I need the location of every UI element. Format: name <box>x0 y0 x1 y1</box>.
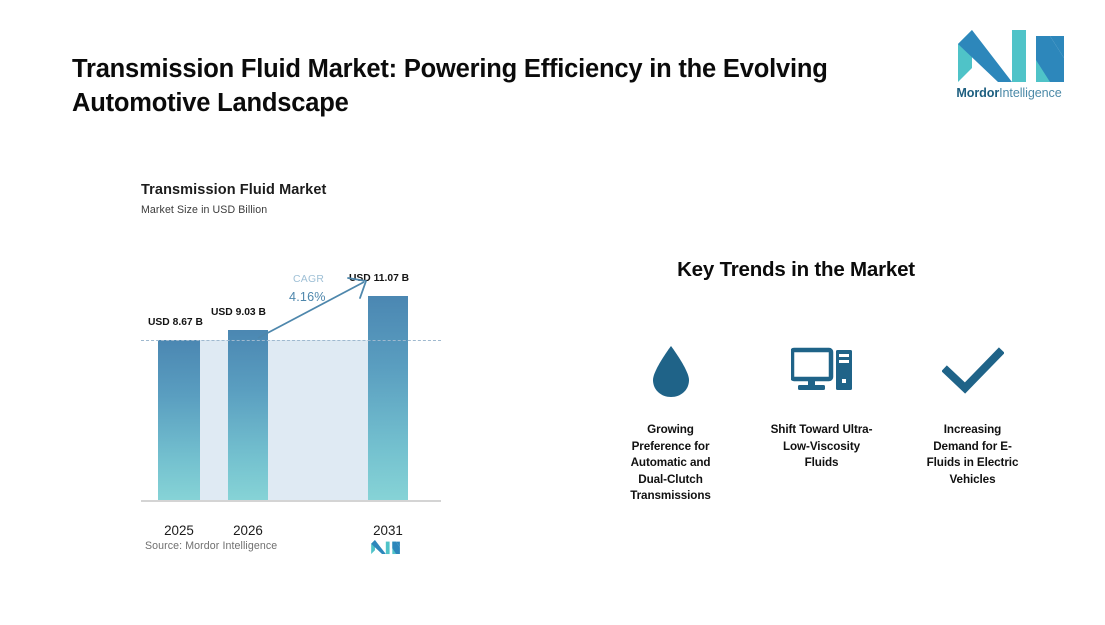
trend-item-2: Shift Toward Ultra-Low-Viscosity Fluids <box>746 338 897 505</box>
x-tick-2026: 2026 <box>223 523 273 538</box>
trend-label-2: Shift Toward Ultra-Low-Viscosity Fluids <box>767 422 877 472</box>
brand-wordmark: MordorIntelligence <box>950 86 1068 100</box>
cagr-label: CAGR <box>293 274 324 285</box>
x-axis-line <box>141 500 441 502</box>
chart-source-text: Source: Mordor Intelligence <box>145 540 277 552</box>
chart-title: Transmission Fluid Market <box>141 182 441 198</box>
trend-label-3: Increasing Demand for E-Fluids in Electr… <box>920 422 1026 488</box>
cagr-value: 4.16% <box>289 290 326 304</box>
water-droplet-icon <box>649 338 693 404</box>
trends-heading: Key Trends in the Market <box>640 258 952 282</box>
bar-chart-plot: USD 8.67 B USD 9.03 B USD 11.07 B CAGR 4… <box>141 268 441 512</box>
bar-value-label-2025: USD 8.67 B <box>148 317 203 328</box>
chart-subtitle: Market Size in USD Billion <box>141 204 441 216</box>
background-band <box>200 340 228 500</box>
chart-source-row: Source: Mordor Intelligence <box>141 537 441 561</box>
background-band <box>268 340 368 500</box>
x-tick-2025: 2025 <box>155 523 203 538</box>
bar-2025 <box>158 340 200 500</box>
brand-logo: MordorIntelligence <box>950 30 1068 108</box>
bar-2026 <box>228 330 268 500</box>
brand-name-bold: Mordor <box>956 86 999 100</box>
x-tick-2031: 2031 <box>363 523 413 538</box>
brand-name-light: Intelligence <box>999 86 1062 100</box>
page-title: Transmission Fluid Market: Powering Effi… <box>72 52 862 120</box>
mordor-m-mark-icon <box>950 30 1068 82</box>
trends-row: Growing Preference for Automatic and Dua… <box>595 338 1050 505</box>
checkmark-icon <box>942 338 1004 404</box>
chart-panel: Transmission Fluid Market Market Size in… <box>141 182 441 562</box>
trend-label-1: Growing Preference for Automatic and Dua… <box>617 422 725 505</box>
trend-item-1: Growing Preference for Automatic and Dua… <box>595 338 746 505</box>
infographic-page: Transmission Fluid Market: Powering Effi… <box>0 0 1105 625</box>
trend-item-3: Increasing Demand for E-Fluids in Electr… <box>897 338 1048 505</box>
desktop-computer-icon <box>791 338 853 404</box>
mordor-m-mark-icon-small <box>369 537 401 557</box>
